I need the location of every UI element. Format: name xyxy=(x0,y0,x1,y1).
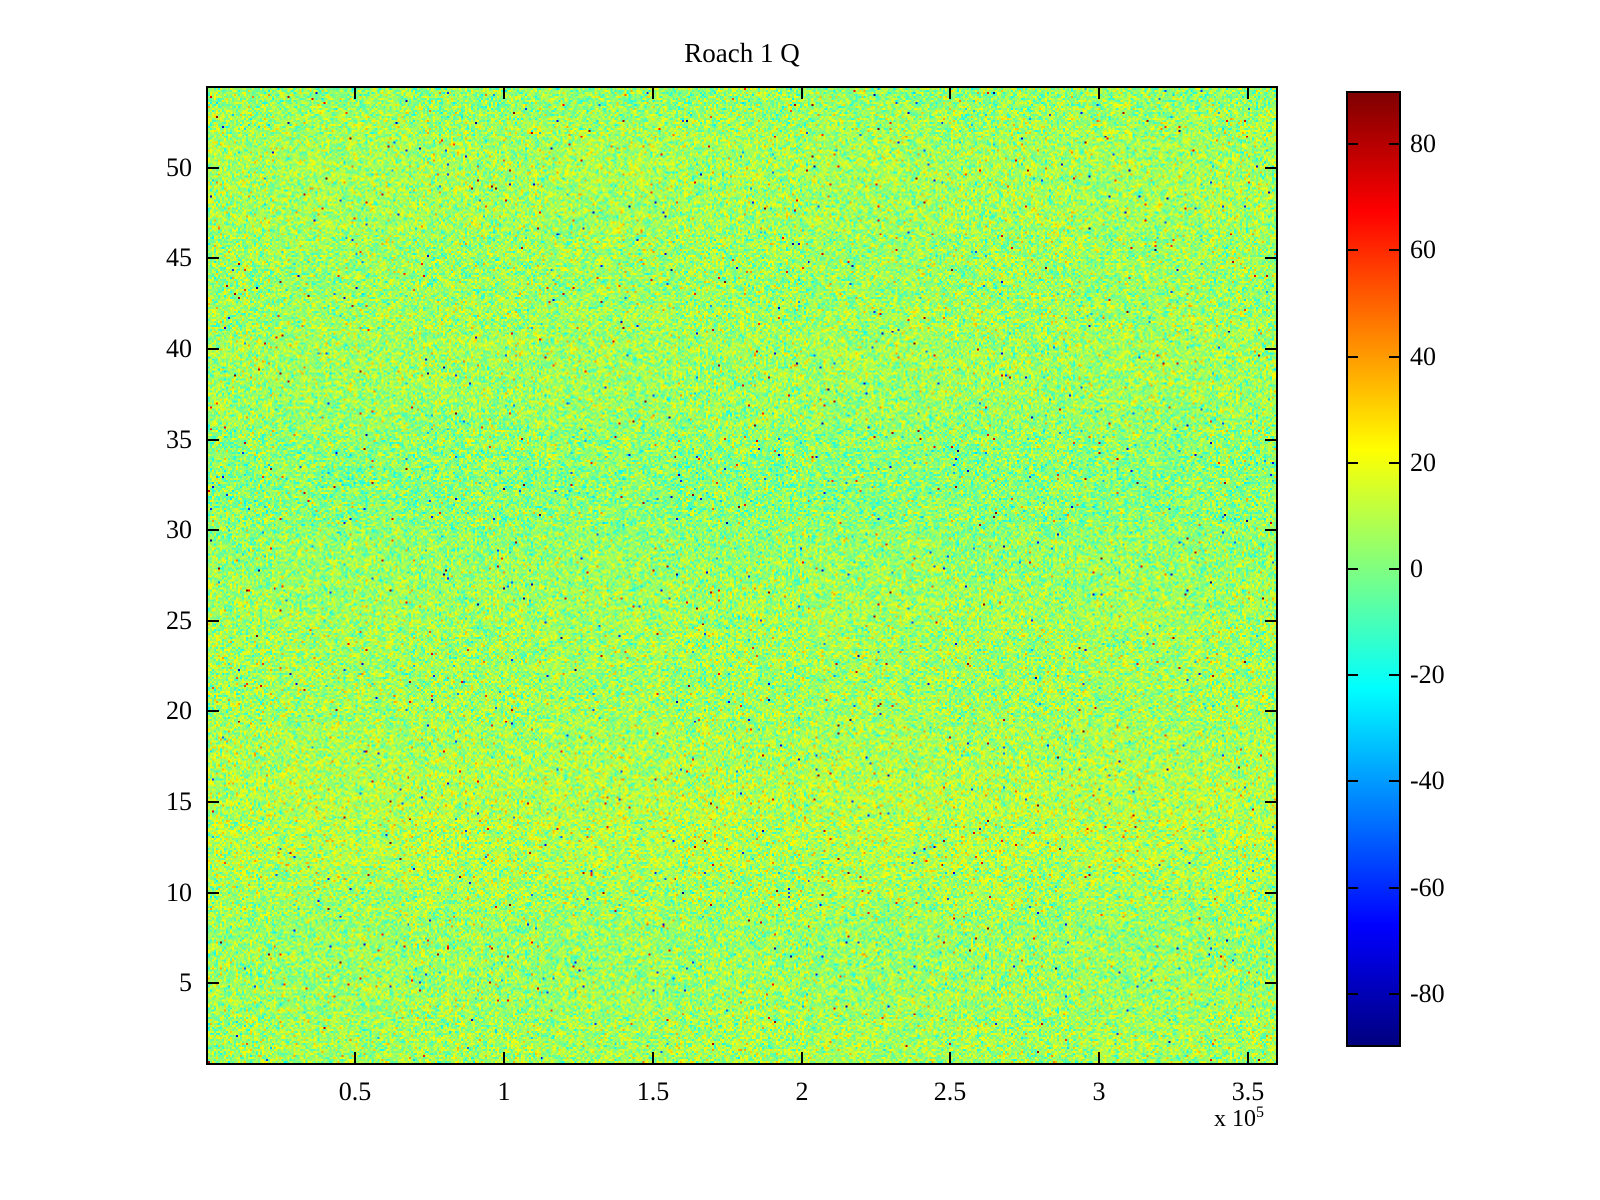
y-axis-tick xyxy=(208,257,219,259)
x-axis-tick xyxy=(801,1052,803,1063)
x-axis-tick-label: 2.5 xyxy=(934,1079,967,1105)
x-axis-exponent-label: x 105 xyxy=(1214,1104,1264,1133)
heatmap-image xyxy=(208,88,1276,1063)
colorbar-tick-label: 0 xyxy=(1410,556,1423,582)
colorbar-tick xyxy=(1389,249,1399,251)
y-axis-tick-label: 20 xyxy=(166,698,192,724)
y-axis-tick-label: 10 xyxy=(166,880,192,906)
heatmap-axes[interactable] xyxy=(206,86,1278,1065)
colorbar-tick-label: -60 xyxy=(1410,875,1445,901)
y-axis-tick xyxy=(1265,529,1276,531)
y-axis-tick xyxy=(208,167,219,169)
matlab-figure: Roach 1 Q 51015202530354045500.511.522.5… xyxy=(0,0,1600,1200)
y-axis-tick-label: 15 xyxy=(166,789,192,815)
colorbar-tick xyxy=(1389,674,1399,676)
y-axis-tick-label: 45 xyxy=(166,245,192,271)
colorbar-tick-label: -80 xyxy=(1410,981,1445,1007)
y-axis-tick xyxy=(208,620,219,622)
y-axis-tick xyxy=(1265,710,1276,712)
y-axis-tick-label: 50 xyxy=(166,155,192,181)
colorbar-tick xyxy=(1348,780,1358,782)
colorbar-tick xyxy=(1348,462,1358,464)
y-axis-tick xyxy=(1265,620,1276,622)
colorbar-tick-label: 60 xyxy=(1410,237,1436,263)
x-axis-tick-label: 3 xyxy=(1093,1079,1106,1105)
colorbar-tick xyxy=(1348,568,1358,570)
x-axis-tick xyxy=(1247,1052,1249,1063)
colorbar-tick xyxy=(1348,887,1358,889)
x-axis-tick xyxy=(1098,88,1100,99)
x-axis-tick xyxy=(652,88,654,99)
colorbar-tick xyxy=(1348,993,1358,995)
y-axis-tick xyxy=(208,348,219,350)
y-axis-tick xyxy=(1265,801,1276,803)
colorbar-tick-label: 40 xyxy=(1410,344,1436,370)
x-axis-tick xyxy=(503,88,505,99)
y-axis-tick xyxy=(1265,439,1276,441)
colorbar-tick-label: 80 xyxy=(1410,131,1436,157)
y-axis-tick xyxy=(208,892,219,894)
colorbar-tick xyxy=(1389,356,1399,358)
y-axis-tick-label: 40 xyxy=(166,336,192,362)
x-axis-tick xyxy=(1098,1052,1100,1063)
colorbar-tick xyxy=(1389,993,1399,995)
colorbar-tick xyxy=(1389,568,1399,570)
x-axis-tick-label: 0.5 xyxy=(339,1079,372,1105)
page-title: Roach 1 Q xyxy=(206,40,1278,67)
colorbar-tick-label: -20 xyxy=(1410,662,1445,688)
x-axis-tick xyxy=(503,1052,505,1063)
x-axis-tick xyxy=(354,1052,356,1063)
y-axis-tick xyxy=(208,529,219,531)
colorbar-tick xyxy=(1348,674,1358,676)
x-axis-tick-label: 3.5 xyxy=(1232,1079,1265,1105)
y-axis-tick xyxy=(208,439,219,441)
colorbar-tick-label: -40 xyxy=(1410,768,1445,794)
x-axis-tick xyxy=(949,88,951,99)
y-axis-tick-label: 25 xyxy=(166,608,192,634)
y-axis-tick xyxy=(1265,348,1276,350)
x-axis-tick xyxy=(652,1052,654,1063)
colorbar-tick xyxy=(1348,356,1358,358)
x-axis-tick-label: 1 xyxy=(498,1079,511,1105)
y-axis-tick xyxy=(208,982,219,984)
colorbar-tick xyxy=(1389,780,1399,782)
y-axis-tick xyxy=(208,710,219,712)
colorbar-tick xyxy=(1348,249,1358,251)
y-axis-tick xyxy=(1265,167,1276,169)
x-axis-tick xyxy=(354,88,356,99)
y-axis-tick xyxy=(208,801,219,803)
colorbar-tick xyxy=(1389,462,1399,464)
x-exponent-base: x 10 xyxy=(1214,1106,1256,1132)
x-axis-tick-label: 1.5 xyxy=(637,1079,670,1105)
colorbar-tick xyxy=(1348,143,1358,145)
y-axis-tick xyxy=(1265,257,1276,259)
y-axis-tick-label: 5 xyxy=(179,970,192,996)
x-axis-tick-label: 2 xyxy=(796,1079,809,1105)
y-axis-tick xyxy=(1265,982,1276,984)
x-axis-tick xyxy=(1247,88,1249,99)
x-exponent-power: 5 xyxy=(1256,1104,1264,1121)
colorbar-tick xyxy=(1389,143,1399,145)
x-axis-tick xyxy=(949,1052,951,1063)
y-axis-tick xyxy=(1265,892,1276,894)
x-axis-tick xyxy=(801,88,803,99)
colorbar-tick xyxy=(1389,887,1399,889)
y-axis-tick-label: 30 xyxy=(166,517,192,543)
y-axis-tick-label: 35 xyxy=(166,427,192,453)
colorbar-tick-label: 20 xyxy=(1410,450,1436,476)
